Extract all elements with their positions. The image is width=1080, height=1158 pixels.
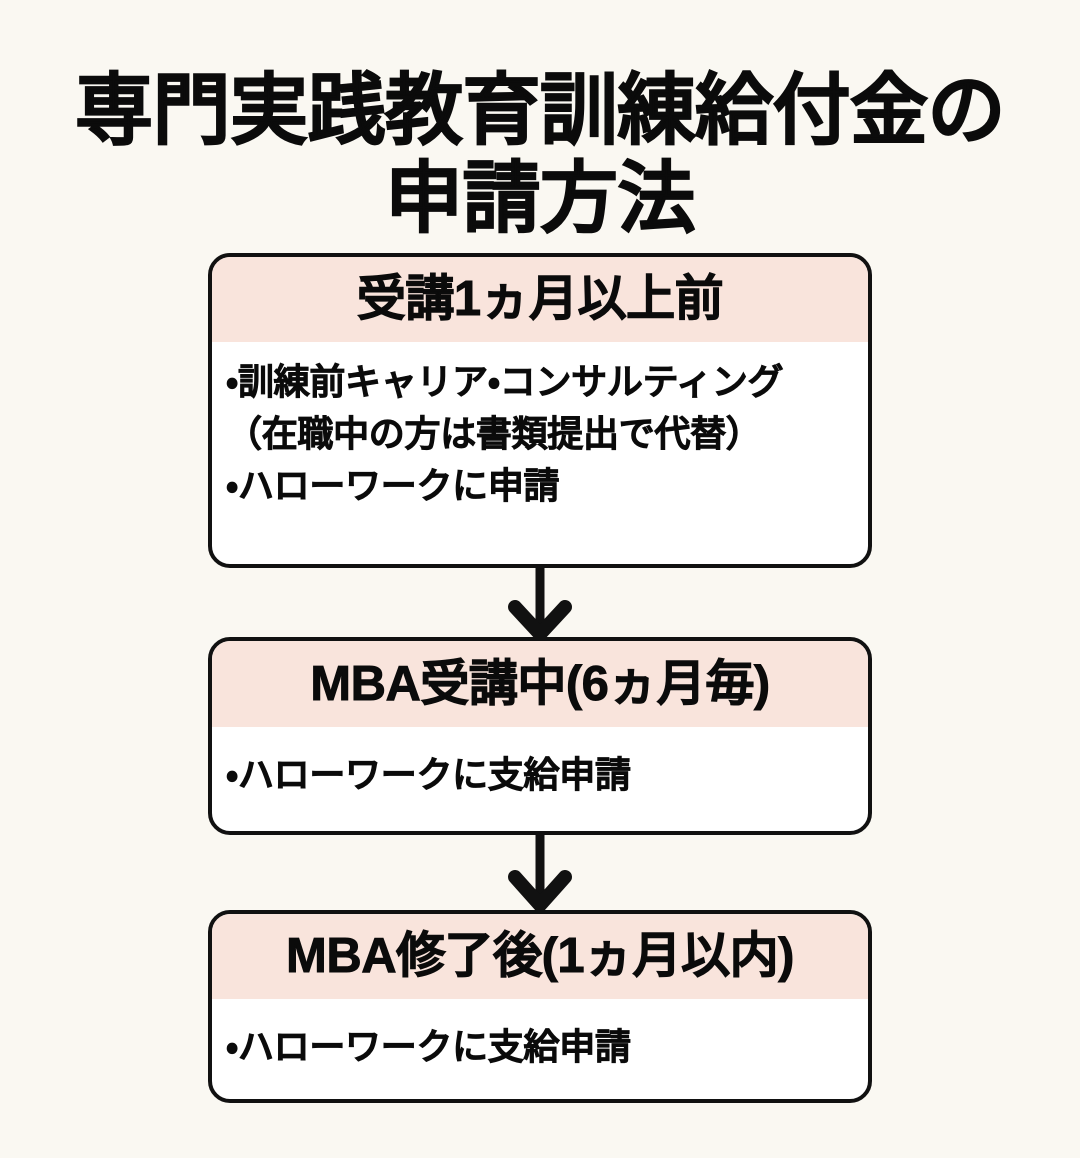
flow-step-2: MBA受講中(6ヵ月毎) ・ハローワークに支給申請: [208, 637, 872, 835]
flow-step-2-line-1: ・ハローワークに支給申請: [226, 749, 868, 801]
flow-step-3-body: ・ハローワークに支給申請: [212, 999, 868, 1073]
flow-step-3-header: MBA修了後(1ヵ月以内): [212, 914, 868, 999]
flow-step-2-header: MBA受講中(6ヵ月毎): [212, 641, 868, 727]
flow-step-1-header: 受講1ヵ月以上前: [212, 257, 868, 342]
flow-step-1-line-1: ・訓練前キャリア・コンサルティング: [226, 356, 868, 408]
flowchart: 受講1ヵ月以上前 ・訓練前キャリア・コンサルティング （在職中の方は書類提出で代…: [0, 0, 1080, 1158]
down-arrow-icon-2: [505, 833, 575, 913]
down-arrow-icon-1: [505, 566, 575, 640]
flow-step-1-body: ・訓練前キャリア・コンサルティング （在職中の方は書類提出で代替） ・ハローワー…: [212, 342, 868, 513]
flow-step-1-line-2: （在職中の方は書類提出で代替）: [226, 408, 868, 460]
flow-step-3: MBA修了後(1ヵ月以内) ・ハローワークに支給申請: [208, 910, 872, 1103]
flow-step-1: 受講1ヵ月以上前 ・訓練前キャリア・コンサルティング （在職中の方は書類提出で代…: [208, 253, 872, 568]
flow-step-1-line-3: ・ハローワークに申請: [226, 460, 868, 512]
flow-step-3-line-1: ・ハローワークに支給申請: [226, 1021, 868, 1073]
flow-step-2-body: ・ハローワークに支給申請: [212, 727, 868, 801]
